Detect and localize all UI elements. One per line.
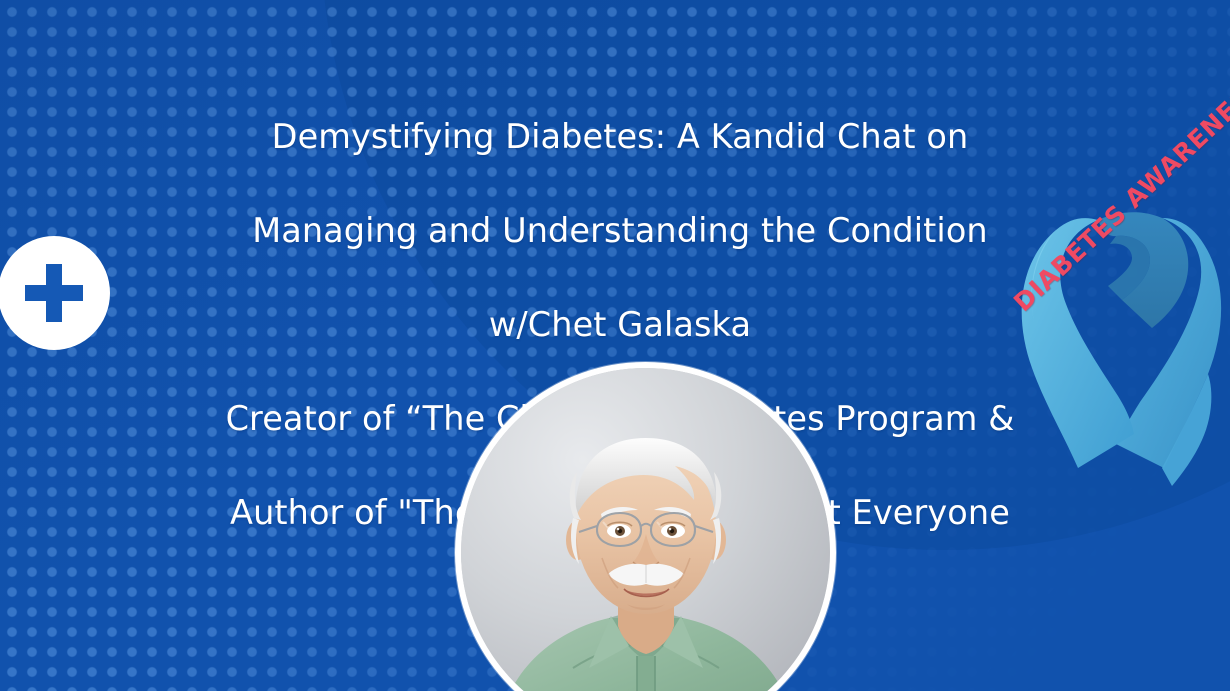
speaker-portrait-image	[461, 368, 830, 691]
speaker-portrait	[455, 362, 836, 691]
headline-line-2: Managing and Understanding the Condition	[160, 207, 1080, 254]
medical-cross-badge	[0, 236, 110, 350]
slide-canvas: Demystifying Diabetes: A Kandid Chat on …	[0, 0, 1230, 691]
medical-cross-icon	[23, 262, 85, 324]
headline-line-1: Demystifying Diabetes: A Kandid Chat on	[160, 113, 1080, 160]
awareness-ribbon-icon: DIABETES AWARENESS	[1012, 196, 1230, 492]
headline-line-3: w/Chet Galaska	[160, 301, 1080, 348]
